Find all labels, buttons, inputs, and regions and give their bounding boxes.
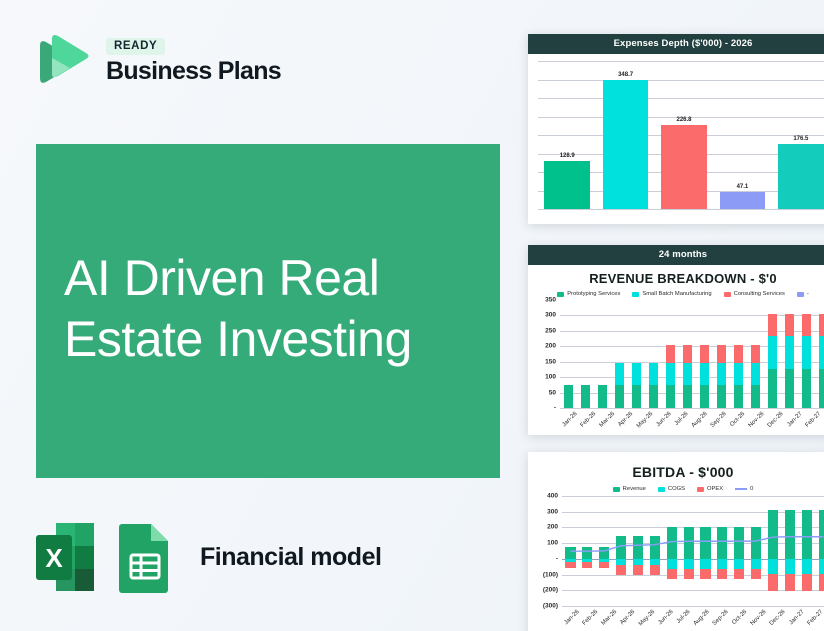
revenue-stacked-bar[interactable]	[632, 363, 641, 408]
revenue-stacked-bar[interactable]	[751, 345, 760, 408]
revenue-bar-segment[interactable]	[700, 385, 709, 408]
revenue-bar-segment[interactable]	[615, 363, 624, 385]
revenue-stacked-bar[interactable]	[700, 345, 709, 408]
ebitda-x-tick-label: Mar-26	[601, 609, 619, 627]
ebitda-x-tick-label: Jun-26	[658, 609, 675, 626]
revenue-legend-swatch	[797, 292, 804, 297]
ebitda-plot-area: 400300200100-(100)(200)(300)	[532, 496, 824, 606]
revenue-bar-segment[interactable]	[581, 385, 590, 408]
ebitda-x-tick-label: Sep-26	[712, 609, 730, 627]
revenue-x-tick-label: Feb-27	[804, 411, 822, 429]
revenue-bar-slot[interactable]	[594, 300, 611, 408]
revenue-x-tick-label: Nov-26	[748, 411, 766, 429]
revenue-bar-segment[interactable]	[666, 385, 675, 408]
expenses-chart-banner: Expenses Depth ($'000) - 2026	[528, 34, 824, 54]
revenue-bar-segment[interactable]	[632, 363, 641, 385]
brand-lockup: READY Business Plans	[30, 30, 281, 92]
revenue-bar-segment[interactable]	[683, 345, 692, 364]
ebitda-legend-swatch	[697, 487, 704, 492]
expenses-bar-value: 226.8	[655, 117, 713, 123]
play-triangle-logo-icon	[30, 30, 92, 92]
expenses-plot-area: 128.9348.7226.847.1176.5	[538, 61, 824, 209]
expenses-bar-value: 128.9	[538, 153, 596, 159]
ebitda-legend-label: 0	[750, 486, 753, 492]
page-title: AI Driven Real Estate Investing	[64, 248, 484, 370]
expenses-bar-wrap: 226.8	[655, 61, 713, 209]
expenses-bar-slot[interactable]: 176.5	[772, 61, 824, 209]
revenue-legend-swatch	[632, 292, 639, 297]
revenue-bar-slot[interactable]	[747, 300, 764, 408]
microsoft-excel-icon: X	[34, 521, 96, 593]
revenue-bar-segment[interactable]	[683, 363, 692, 385]
revenue-legend-item[interactable]: Prototyping Services	[557, 291, 620, 297]
revenue-bar-segment[interactable]	[717, 363, 726, 385]
revenue-legend-label: Consulting Services	[734, 291, 785, 297]
ebitda-legend-label: OPEX	[707, 486, 723, 492]
revenue-bar-segment[interactable]	[819, 369, 824, 408]
revenue-bar-segment[interactable]	[802, 336, 811, 368]
expenses-bar-slot[interactable]: 47.1	[713, 61, 771, 209]
ebitda-legend-swatch	[735, 488, 747, 490]
revenue-bar-segment[interactable]	[785, 369, 794, 408]
revenue-stacked-bar[interactable]	[649, 363, 658, 408]
ebitda-legend-item[interactable]: COGS	[658, 486, 685, 492]
footer-caption: Financial model	[200, 543, 381, 572]
revenue-x-tick-label: Aug-26	[691, 411, 709, 429]
revenue-bar-segment[interactable]	[768, 314, 777, 336]
revenue-stacked-bar[interactable]	[819, 314, 824, 408]
revenue-x-tick-label: Dec-26	[767, 411, 785, 429]
expenses-bar-value: 176.5	[772, 136, 824, 142]
ebitda-legend-item[interactable]: Revenue	[613, 486, 646, 492]
revenue-x-tick-label: Jan-27	[786, 411, 803, 428]
ebitda-y-tick: (300)	[543, 603, 558, 610]
revenue-bar-slot[interactable]	[679, 300, 696, 408]
revenue-bar-segment[interactable]	[649, 363, 658, 385]
revenue-legend-label: Prototyping Services	[567, 291, 620, 297]
revenue-bar-slot[interactable]	[662, 300, 679, 408]
revenue-legend-item[interactable]: Small Batch Manufacturing	[632, 291, 711, 297]
revenue-bar-slot[interactable]	[713, 300, 730, 408]
revenue-bar-segment[interactable]	[802, 369, 811, 408]
revenue-plot-area: 35030025020015010050-	[532, 300, 824, 408]
ebitda-x-tick-label: Aug-26	[693, 609, 711, 627]
chart-card-ebitda: EBITDA - $'000 RevenueCOGSOPEX0 40030020…	[528, 452, 824, 631]
revenue-stacked-bar[interactable]	[683, 345, 692, 408]
ebitda-y-tick: -	[556, 555, 558, 562]
revenue-x-tick-label: Mar-26	[599, 411, 617, 429]
revenue-x-tick-label: Jan-26	[561, 411, 578, 428]
revenue-stacked-bar[interactable]	[564, 385, 573, 408]
revenue-stacked-bar[interactable]	[598, 385, 607, 408]
revenue-bar-segment[interactable]	[751, 363, 760, 385]
ready-badge: READY	[106, 38, 165, 55]
ebitda-legend-item[interactable]: 0	[735, 486, 753, 492]
revenue-bar-segment[interactable]	[615, 385, 624, 408]
expenses-bar-slot[interactable]: 128.9	[538, 61, 596, 209]
expenses-gridline	[538, 209, 824, 210]
ebitda-x-tick-label: Jan-27	[788, 609, 805, 626]
revenue-bar-segment[interactable]	[751, 345, 760, 364]
expenses-bar[interactable]	[544, 161, 590, 209]
ebitda-y-tick: 100	[547, 540, 558, 547]
hero-panel: AI Driven Real Estate Investing	[36, 144, 500, 478]
revenue-y-tick: 300	[545, 312, 556, 319]
revenue-bar-segment[interactable]	[717, 345, 726, 364]
revenue-bar-segment[interactable]	[666, 363, 675, 385]
ebitda-legend-item[interactable]: OPEX	[697, 486, 723, 492]
revenue-bar-slot[interactable]	[696, 300, 713, 408]
ebitda-legend-swatch	[658, 487, 665, 492]
revenue-bar-segment[interactable]	[785, 314, 794, 336]
expenses-bar-slot[interactable]: 226.8	[655, 61, 713, 209]
revenue-legend-swatch	[557, 292, 564, 297]
ebitda-legend-label: COGS	[668, 486, 685, 492]
revenue-bar-slot[interactable]	[645, 300, 662, 408]
expenses-bars: 128.9348.7226.847.1176.5	[538, 61, 824, 209]
ebitda-x-tick-label: Feb-26	[582, 609, 600, 627]
revenue-bar-slot[interactable]	[781, 300, 798, 408]
revenue-x-tick: Jan-26	[556, 411, 574, 417]
ebitda-x-axis: Jan-26Feb-26Mar-26Apr-26May-26Jun-26Jul-…	[558, 609, 824, 615]
revenue-bar-slot[interactable]	[764, 300, 781, 408]
ebitda-x-tick-label: Jan-26	[563, 609, 580, 626]
expenses-bar-value: 47.1	[713, 184, 771, 190]
revenue-x-tick-label: May-26	[636, 411, 654, 429]
revenue-x-tick-label: Feb-26	[580, 411, 598, 429]
ebitda-x-tick: Jan-26	[558, 609, 576, 615]
ebitda-y-tick: (100)	[543, 571, 558, 578]
expenses-bar[interactable]	[720, 192, 766, 209]
revenue-stacked-bar[interactable]	[785, 314, 794, 408]
revenue-bar-segment[interactable]	[819, 336, 824, 368]
revenue-x-tick-label: Oct-26	[729, 411, 746, 428]
revenue-bar-segment[interactable]	[802, 314, 811, 336]
ebitda-chart-title: EBITDA - $'000	[528, 452, 824, 484]
ebitda-y-axis: 400300200100-(100)(200)(300)	[532, 496, 560, 606]
revenue-y-tick: 50	[549, 389, 556, 396]
expenses-bar-value: 348.7	[596, 72, 654, 78]
revenue-legend: Prototyping ServicesSmall Batch Manufact…	[528, 291, 824, 297]
revenue-x-axis: Jan-26Feb-26Mar-26Apr-26May-26Jun-26Jul-…	[556, 411, 824, 417]
revenue-y-tick: 100	[545, 374, 556, 381]
ebitda-trend-line	[562, 496, 824, 595]
revenue-legend-label: Small Batch Manufacturing	[642, 291, 711, 297]
revenue-stacked-bar[interactable]	[581, 385, 590, 408]
revenue-bar-segment[interactable]	[700, 345, 709, 364]
revenue-y-tick: 350	[545, 297, 556, 304]
revenue-bar-segment[interactable]	[564, 385, 573, 408]
slide-canvas: READY Business Plans AI Driven Real Esta…	[0, 0, 824, 631]
expenses-bar[interactable]	[603, 80, 649, 209]
expenses-bar-slot[interactable]: 348.7	[596, 61, 654, 209]
ebitda-x-tick-label: Dec-26	[769, 609, 787, 627]
revenue-bar-segment[interactable]	[649, 385, 658, 408]
revenue-chart-title: REVENUE BREAKDOWN - $'0	[528, 265, 824, 289]
revenue-y-tick: 250	[545, 327, 556, 334]
revenue-bar-segment[interactable]	[751, 385, 760, 408]
ebitda-legend: RevenueCOGSOPEX0	[528, 486, 824, 492]
revenue-x-tick-label: Jun-26	[656, 411, 673, 428]
ebitda-x-tick-label: Nov-26	[750, 609, 768, 627]
ebitda-x-tick-label: May-26	[638, 609, 656, 627]
expenses-bar-wrap: 128.9	[538, 61, 596, 209]
revenue-bar-segment[interactable]	[768, 336, 777, 368]
revenue-x-tick-label: Jul-26	[674, 411, 690, 427]
revenue-bar-slot[interactable]	[798, 300, 815, 408]
chart-card-expenses: Expenses Depth ($'000) - 2026 128.9348.7…	[528, 34, 824, 224]
google-sheets-icon	[114, 521, 176, 593]
revenue-legend-item[interactable]: Consulting Services	[724, 291, 785, 297]
revenue-stacked-bar[interactable]	[615, 363, 624, 408]
revenue-bar-segment[interactable]	[666, 345, 675, 364]
revenue-y-tick: 150	[545, 358, 556, 365]
revenue-bar-segment[interactable]	[819, 314, 824, 336]
revenue-bar-segment[interactable]	[734, 345, 743, 364]
ebitda-x-tick-label: Apr-26	[620, 609, 637, 626]
revenue-bar-segment[interactable]	[632, 385, 641, 408]
expenses-bar-wrap: 176.5	[772, 61, 824, 209]
revenue-bar-segment[interactable]	[734, 363, 743, 385]
revenue-stacked-bar[interactable]	[717, 345, 726, 408]
revenue-x-tick-label: Sep-26	[710, 411, 728, 429]
revenue-legend-item[interactable]: -	[797, 291, 809, 297]
revenue-y-tick: 200	[545, 343, 556, 350]
revenue-bar-segment[interactable]	[734, 385, 743, 408]
revenue-bar-segment[interactable]	[768, 369, 777, 408]
revenue-legend-swatch	[724, 292, 731, 297]
revenue-bar-slot[interactable]	[730, 300, 747, 408]
revenue-bar-slot[interactable]	[560, 300, 577, 408]
ebitda-x-tick-label: Jul-26	[676, 609, 692, 625]
ebitda-y-tick: 400	[547, 493, 558, 500]
ebitda-legend-swatch	[613, 487, 620, 492]
expenses-bar[interactable]	[778, 144, 824, 209]
ebitda-y-tick: 200	[547, 524, 558, 531]
revenue-gridline	[560, 408, 824, 409]
revenue-stacked-bar[interactable]	[666, 345, 675, 408]
revenue-bar-segment[interactable]	[683, 385, 692, 408]
revenue-chart-banner: 24 months	[528, 245, 824, 265]
revenue-bar-segment[interactable]	[717, 385, 726, 408]
expenses-bar-wrap: 47.1	[713, 61, 771, 209]
chart-card-revenue: 24 months REVENUE BREAKDOWN - $'0 Protot…	[528, 245, 824, 435]
ebitda-y-tick: 300	[547, 508, 558, 515]
revenue-stacked-bar[interactable]	[802, 314, 811, 408]
revenue-bar-slot[interactable]	[815, 300, 824, 408]
footer-row: X Financial model	[34, 521, 381, 593]
ebitda-x-tick-label: Feb-27	[806, 609, 824, 627]
expenses-bar[interactable]	[661, 125, 707, 209]
revenue-bar-segment[interactable]	[700, 363, 709, 385]
revenue-stacked-bar[interactable]	[768, 314, 777, 408]
revenue-bar-segment[interactable]	[598, 385, 607, 408]
revenue-bar-slot[interactable]	[628, 300, 645, 408]
revenue-x-tick-label: Apr-26	[618, 411, 635, 428]
revenue-bar-slot[interactable]	[577, 300, 594, 408]
revenue-bars	[560, 300, 824, 408]
expenses-bar-wrap: 348.7	[596, 61, 654, 209]
ebitda-gridline	[562, 606, 824, 607]
svg-text:X: X	[45, 543, 63, 573]
ebitda-x-tick-label: Oct-26	[731, 609, 748, 626]
ebitda-legend-label: Revenue	[623, 486, 646, 492]
revenue-y-axis: 35030025020015010050-	[532, 300, 558, 408]
revenue-stacked-bar[interactable]	[734, 345, 743, 408]
ebitda-y-tick: (200)	[543, 587, 558, 594]
brand-name: Business Plans	[106, 59, 281, 84]
revenue-legend-label: -	[807, 291, 809, 297]
revenue-bar-segment[interactable]	[785, 336, 794, 368]
revenue-bar-slot[interactable]	[611, 300, 628, 408]
